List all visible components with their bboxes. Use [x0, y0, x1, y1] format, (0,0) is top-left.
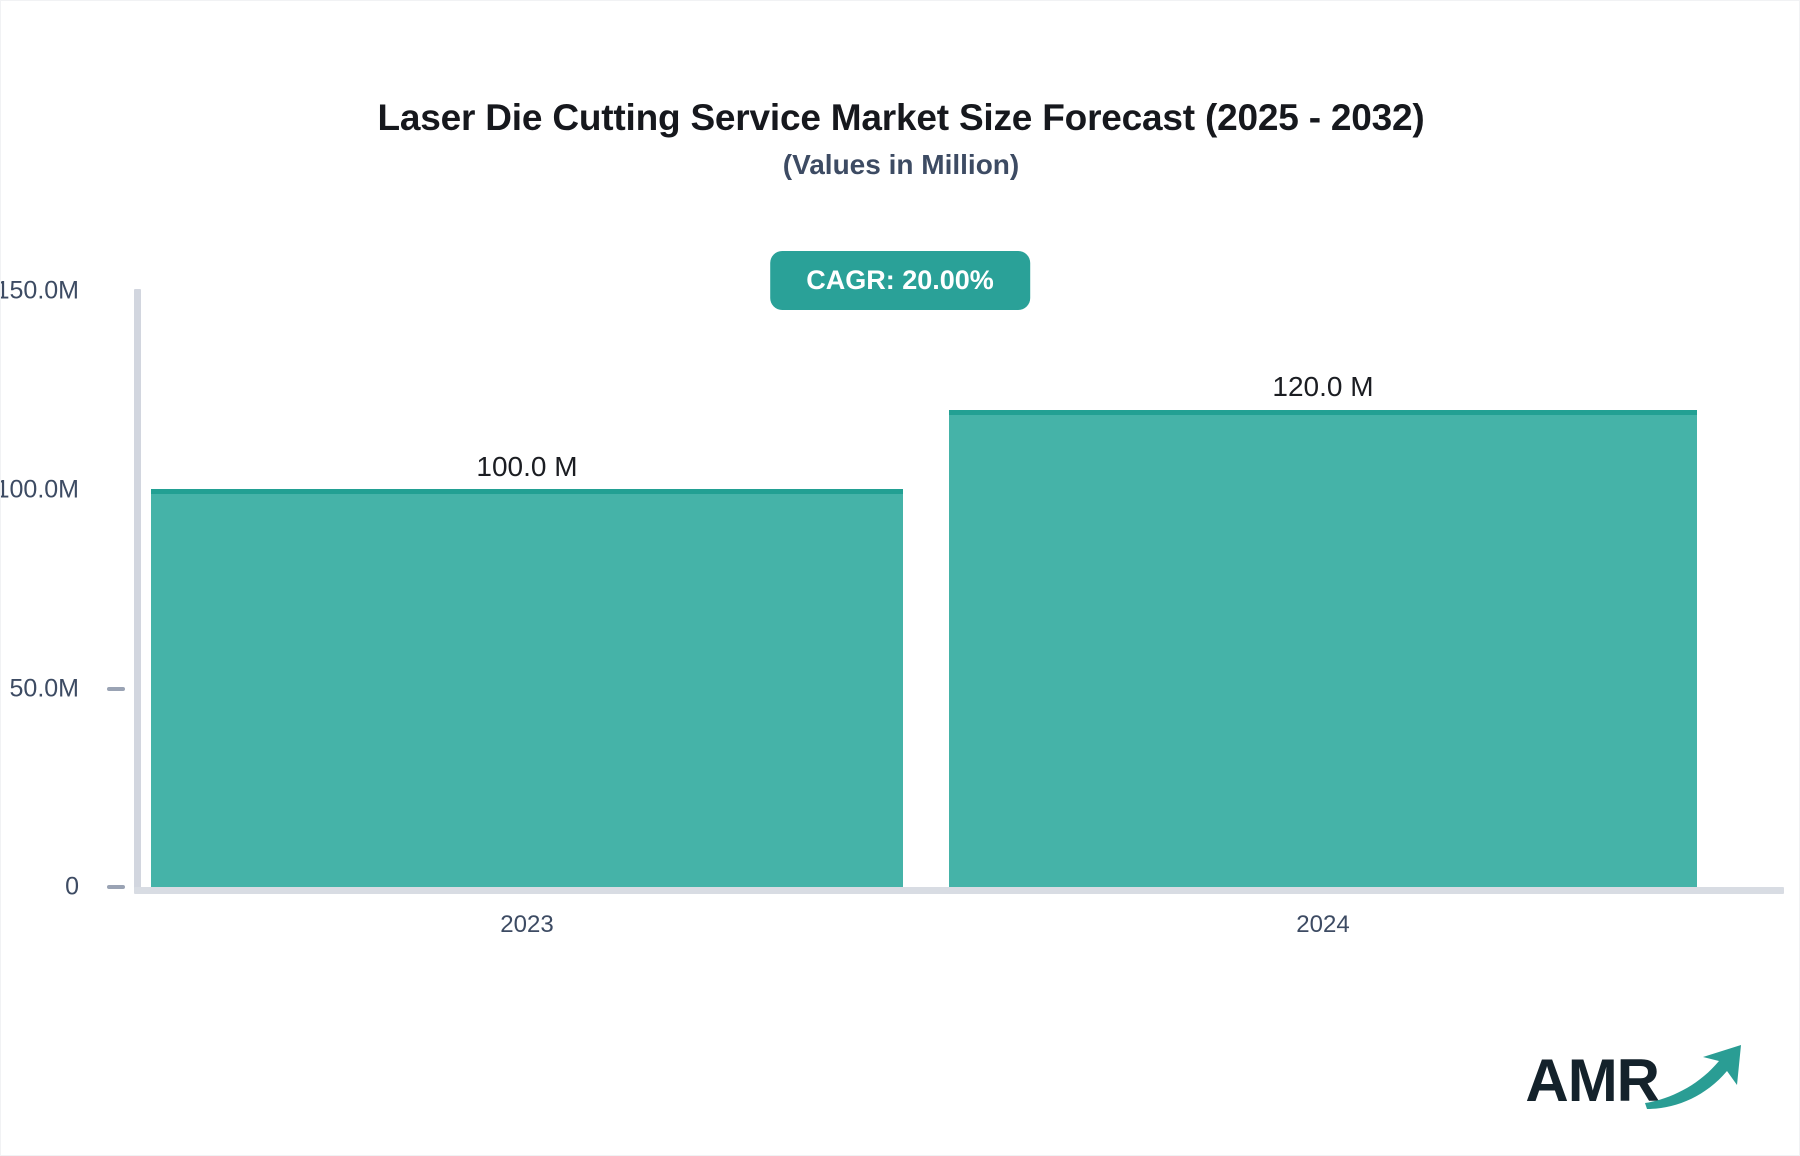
- growth-arrow-icon: [1641, 1041, 1751, 1116]
- plot-area: 150.0M 100.0M 50.0M 0 100.0 M 120.0 M 20…: [1, 1, 1800, 1156]
- chart-canvas: Laser Die Cutting Service Market Size Fo…: [0, 0, 1800, 1156]
- y-tick-label-150: 150.0M: [0, 277, 79, 306]
- x-tick-label-2023: 2023: [500, 911, 553, 939]
- bar-2023[interactable]: [151, 489, 903, 887]
- bar-value-label-2023: 100.0 M: [476, 451, 577, 483]
- x-axis-line: [134, 887, 1784, 894]
- x-tick-label-2024: 2024: [1296, 911, 1349, 939]
- bar-value-label-2024: 120.0 M: [1272, 371, 1373, 403]
- y-tick-label-50: 50.0M: [10, 675, 79, 704]
- bar-2024[interactable]: [949, 410, 1697, 887]
- y-tick-mark-0: [107, 885, 125, 889]
- y-tick-label-100: 100.0M: [0, 476, 79, 505]
- y-tick-label-0: 0: [65, 873, 79, 902]
- y-tick-mark-50: [107, 687, 125, 691]
- y-axis-line: [134, 289, 141, 889]
- amr-logo: AMR: [1525, 1045, 1751, 1117]
- amr-logo-text: AMR: [1525, 1051, 1659, 1111]
